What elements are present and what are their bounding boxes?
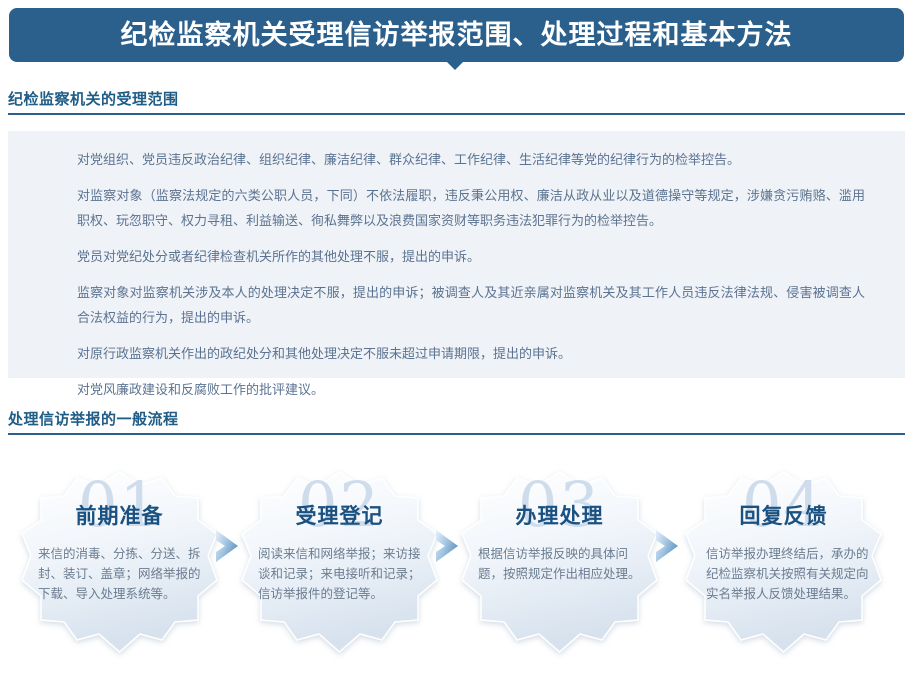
flow-step-card[interactable]: 01 前期准备 来信的消毒、分拣、分送、拆封、装订、盖章；网络举报的下载、导入处… [12, 468, 227, 668]
step-title: 回复反馈 [676, 506, 891, 527]
step-description: 根据信访举报反映的具体问题，按照规定作出相应处理。 [478, 544, 646, 584]
scope-paragraph: 对监察对象（监察法规定的六类公职人员，下同）不依法履职，违反秉公用权、廉洁从政从… [77, 184, 865, 234]
scope-paragraph: 对党风廉政建设和反腐败工作的批评建议。 [77, 378, 865, 403]
banner-notch-triangle [446, 61, 464, 70]
scope-paragraph: 监察对象对监察机关涉及本人的处理决定不服，提出的申诉；被调查人及其近亲属对监察机… [77, 281, 865, 331]
section-flow-divider [8, 433, 905, 435]
page-title: 纪检监察机关受理信访举报范围、处理过程和基本方法 [121, 22, 793, 49]
step-description: 来信的消毒、分拣、分送、拆封、装订、盖章；网络举报的下载、导入处理系统等。 [38, 544, 206, 604]
step-description: 信访举报办理终结后，承办的纪检监察机关按照有关规定向实名举报人反馈处理结果。 [706, 544, 869, 604]
scope-paragraph: 党员对党纪处分或者纪律检查机关所作的其他处理不服，提出的申诉。 [77, 245, 865, 270]
step-title: 受理登记 [232, 506, 447, 527]
section-scope-heading: 纪检监察机关的受理范围 [0, 88, 913, 113]
scope-content-panel: 对党组织、党员违反政治纪律、组织纪律、廉洁纪律、群众纪律、工作纪律、生活纪律等党… [8, 131, 905, 378]
section-scope: 纪检监察机关的受理范围 [0, 88, 913, 115]
flow-step-card[interactable]: 02 受理登记 阅读来信和网络举报；来访接谈和记录；来电接听和记录；信访举报件的… [232, 468, 447, 668]
flow-step-card[interactable]: 03 办理处理 根据信访举报反映的具体问题，按照规定作出相应处理。 [452, 468, 667, 668]
step-title: 办理处理 [452, 506, 667, 527]
step-title: 前期准备 [12, 506, 227, 527]
section-process-flow: 处理信访举报的一般流程 [0, 408, 913, 435]
scope-paragraph: 对原行政监察机关作出的政纪处分和其他处理决定不服未超过申请期限，提出的申诉。 [77, 342, 865, 367]
process-flow-diagram: 01 前期准备 来信的消毒、分拣、分送、拆封、装订、盖章；网络举报的下载、导入处… [0, 468, 913, 681]
title-banner: 纪检监察机关受理信访举报范围、处理过程和基本方法 [9, 8, 904, 62]
section-scope-divider [8, 113, 905, 115]
step-description: 阅读来信和网络举报；来访接谈和记录；来电接听和记录；信访举报件的登记等。 [258, 544, 426, 604]
scope-paragraph: 对党组织、党员违反政治纪律、组织纪律、廉洁纪律、群众纪律、工作纪律、生活纪律等党… [77, 148, 865, 173]
section-flow-heading: 处理信访举报的一般流程 [0, 408, 913, 433]
page-header: 纪检监察机关受理信访举报范围、处理过程和基本方法 [0, 0, 913, 70]
flow-step-card[interactable]: 04 回复反馈 信访举报办理终结后，承办的纪检监察机关按照有关规定向实名举报人反… [676, 468, 891, 668]
